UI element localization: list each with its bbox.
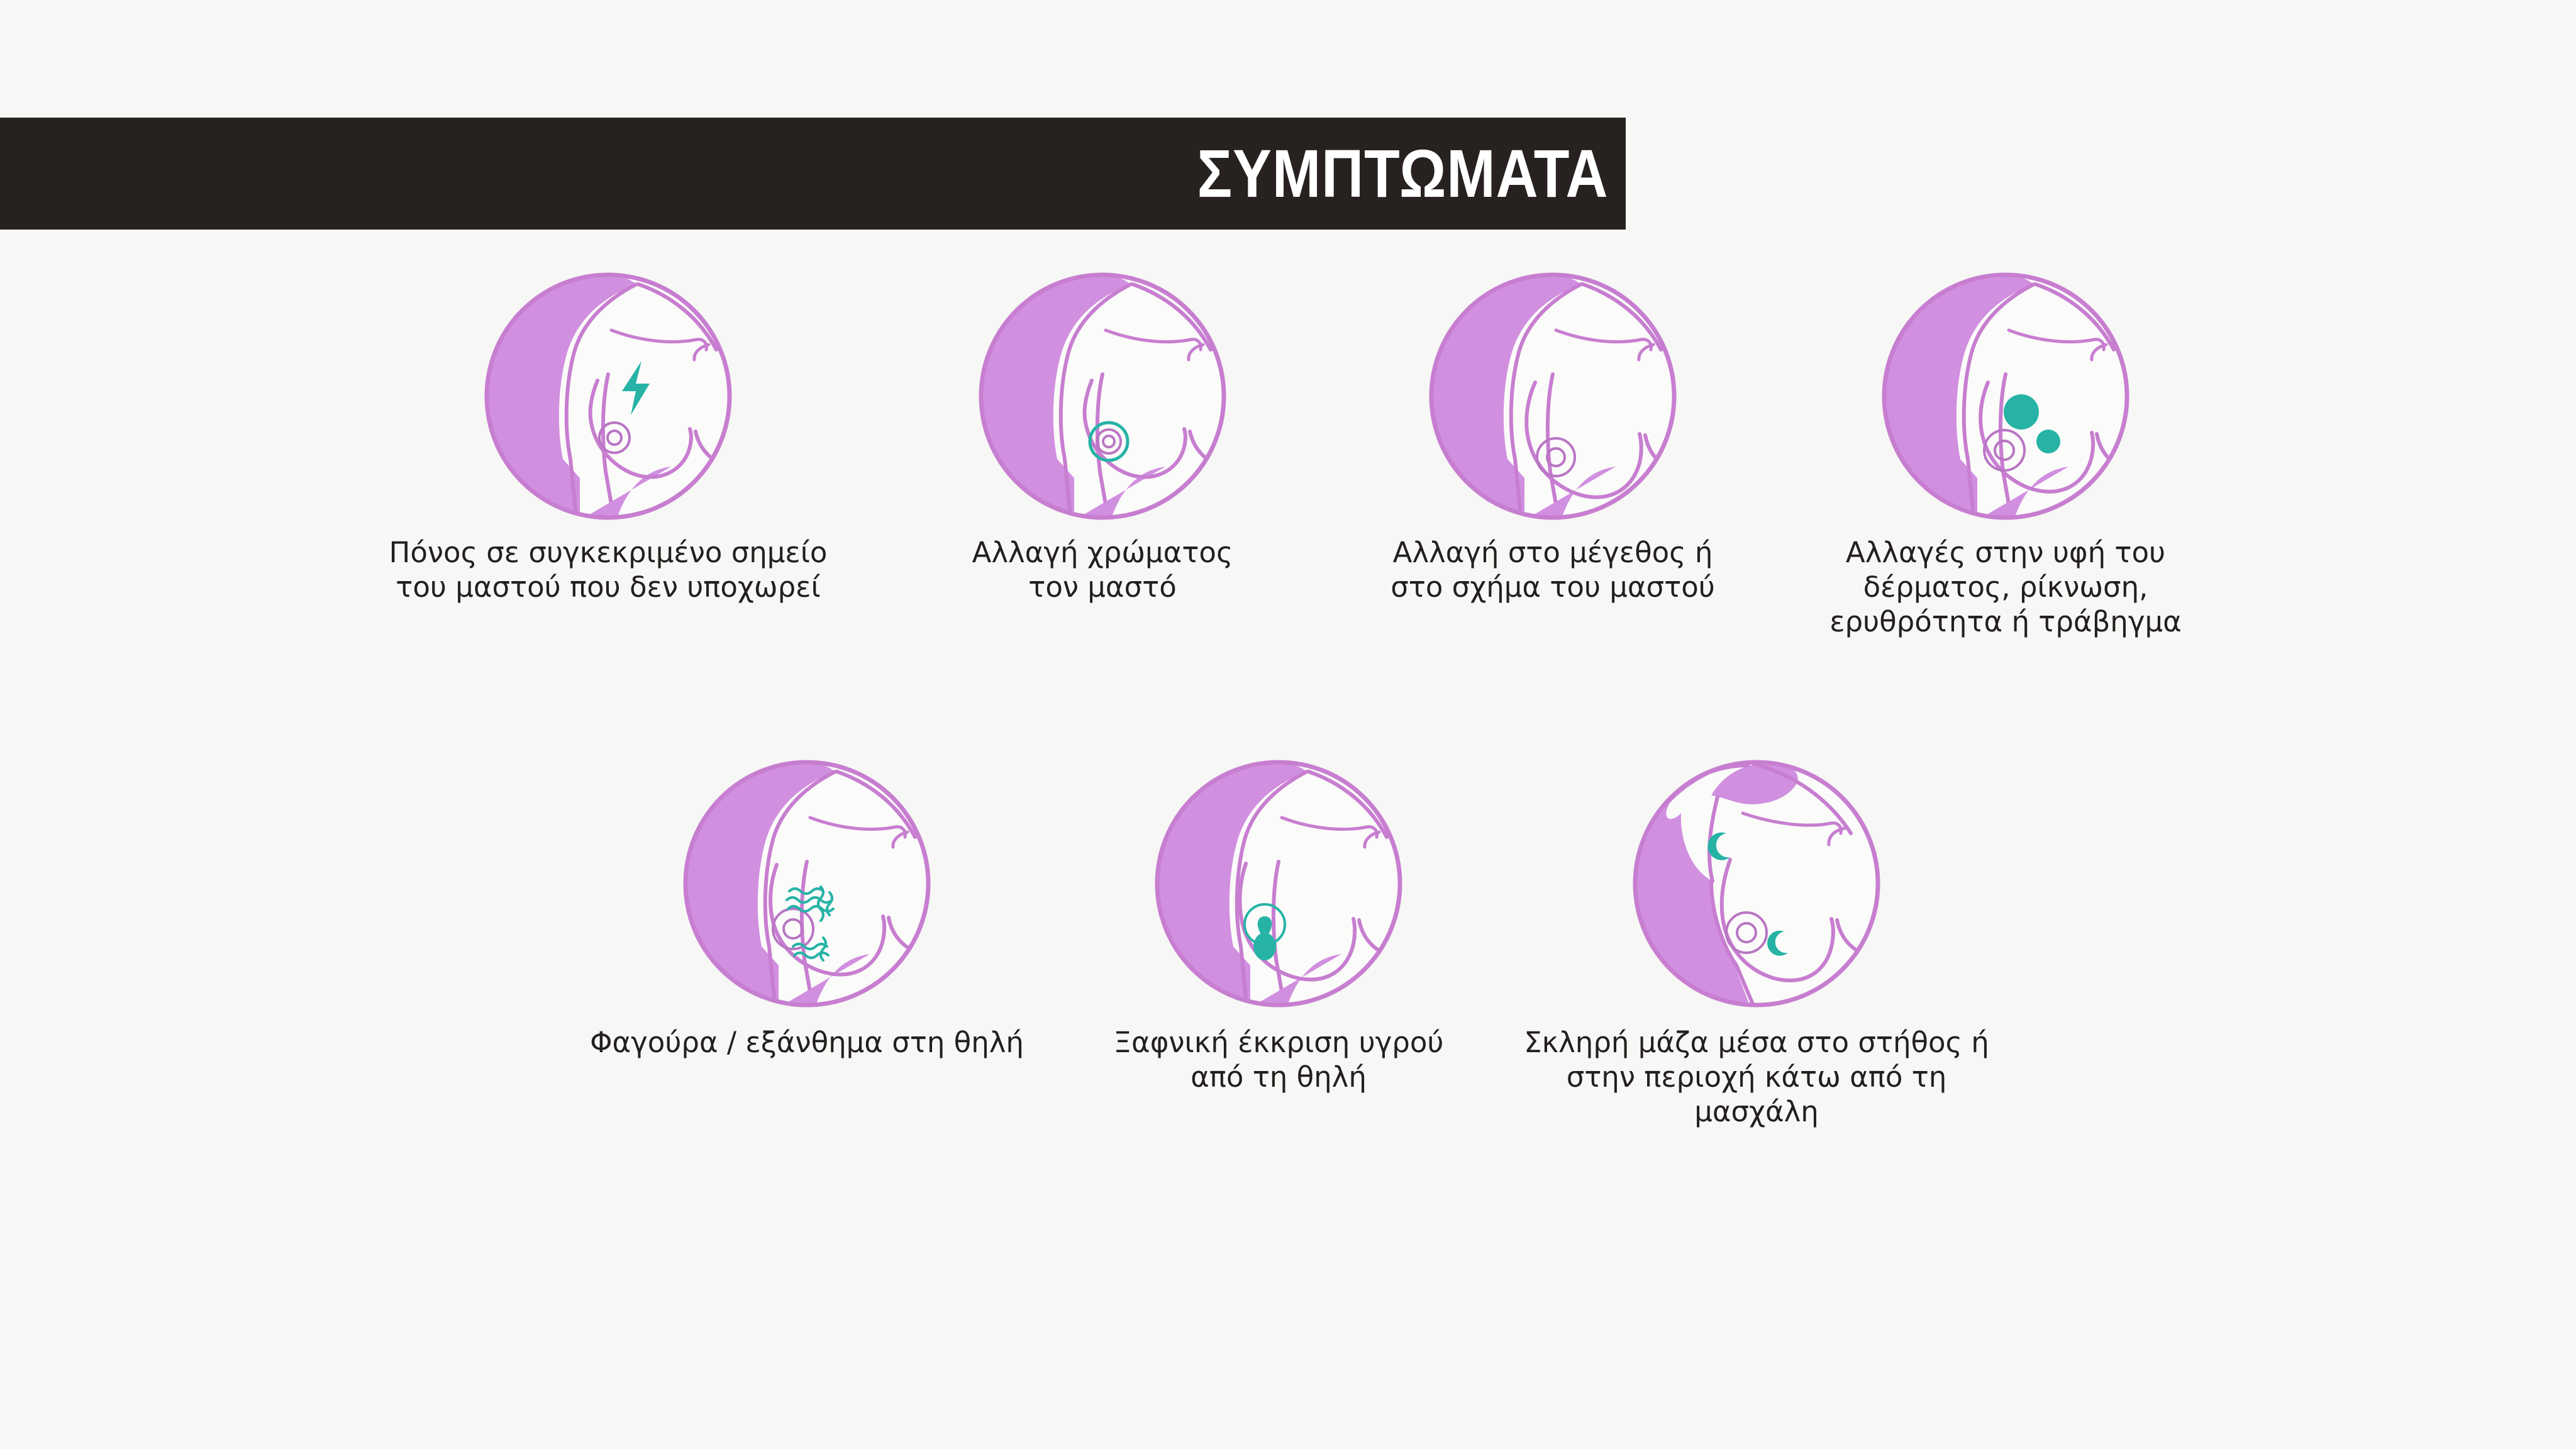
symptom-row-2: Φαγούρα / εξάνθημα στη θηλή <box>0 758 2576 1130</box>
symptom-card-nipple-discharge[interactable]: Ξαφνική έκκριση υγρού από τη θηλή <box>1090 758 1467 1130</box>
symptom-card-itching-rash[interactable]: Φαγούρα / εξάνθημα στη θηλή <box>580 758 1033 1130</box>
breast-pain-lightning-icon <box>482 270 734 522</box>
symptom-row-1: Πόνος σε συγκεκριμένο σημείο του μαστού … <box>0 270 2576 640</box>
symptom-caption: Πόνος σε συγκεκριμένο σημείο του μαστού … <box>389 536 828 605</box>
page-title: ΣΥΜΠΤΩΜΑΤΑ <box>1197 140 1608 208</box>
symptom-card-skin-texture[interactable]: Αλλαγές στην υφή του δέρματος, ρίκνωση, … <box>1798 270 2213 640</box>
symptom-card-lump-armpit[interactable]: Σκληρή μάζα μέσα στο στήθος ή στην περιο… <box>1518 758 1996 1130</box>
breast-color-change-icon <box>977 270 1228 522</box>
symptom-caption: Αλλαγές στην υφή του δέρματος, ρίκνωση, … <box>1829 536 2182 640</box>
symptom-card-color-change[interactable]: Αλλαγή χρώματος τον μαστό <box>908 270 1297 640</box>
symptom-caption: Αλλαγή στο μέγεθος ή στο σχήμα του μαστο… <box>1391 536 1715 605</box>
nipple-discharge-icon <box>1153 758 1404 1009</box>
symptom-caption: Σκληρή μάζα μέσα στο στήθος ή στην περιο… <box>1518 1026 1996 1130</box>
breast-lump-armpit-icon <box>1631 758 1882 1009</box>
symptom-caption: Φαγούρα / εξάνθημα στη θηλή <box>590 1026 1024 1060</box>
symptom-card-pain[interactable]: Πόνος σε συγκεκριμένο σημείο του μαστού … <box>363 270 853 640</box>
symptom-card-size-shape[interactable]: Αλλαγή στο μέγεθος ή στο σχήμα του μαστο… <box>1352 270 1754 640</box>
symptom-caption: Ξαφνική έκκριση υγρού από τη θηλή <box>1114 1026 1444 1095</box>
title-bar: ΣΥΜΠΤΩΜΑΤΑ <box>0 118 1626 230</box>
breast-size-shape-change-icon <box>1427 270 1679 522</box>
breast-skin-texture-icon <box>1880 270 2131 522</box>
symptom-caption: Αλλαγή χρώματος τον μαστό <box>972 536 1233 605</box>
nipple-itching-rash-icon <box>681 758 933 1009</box>
